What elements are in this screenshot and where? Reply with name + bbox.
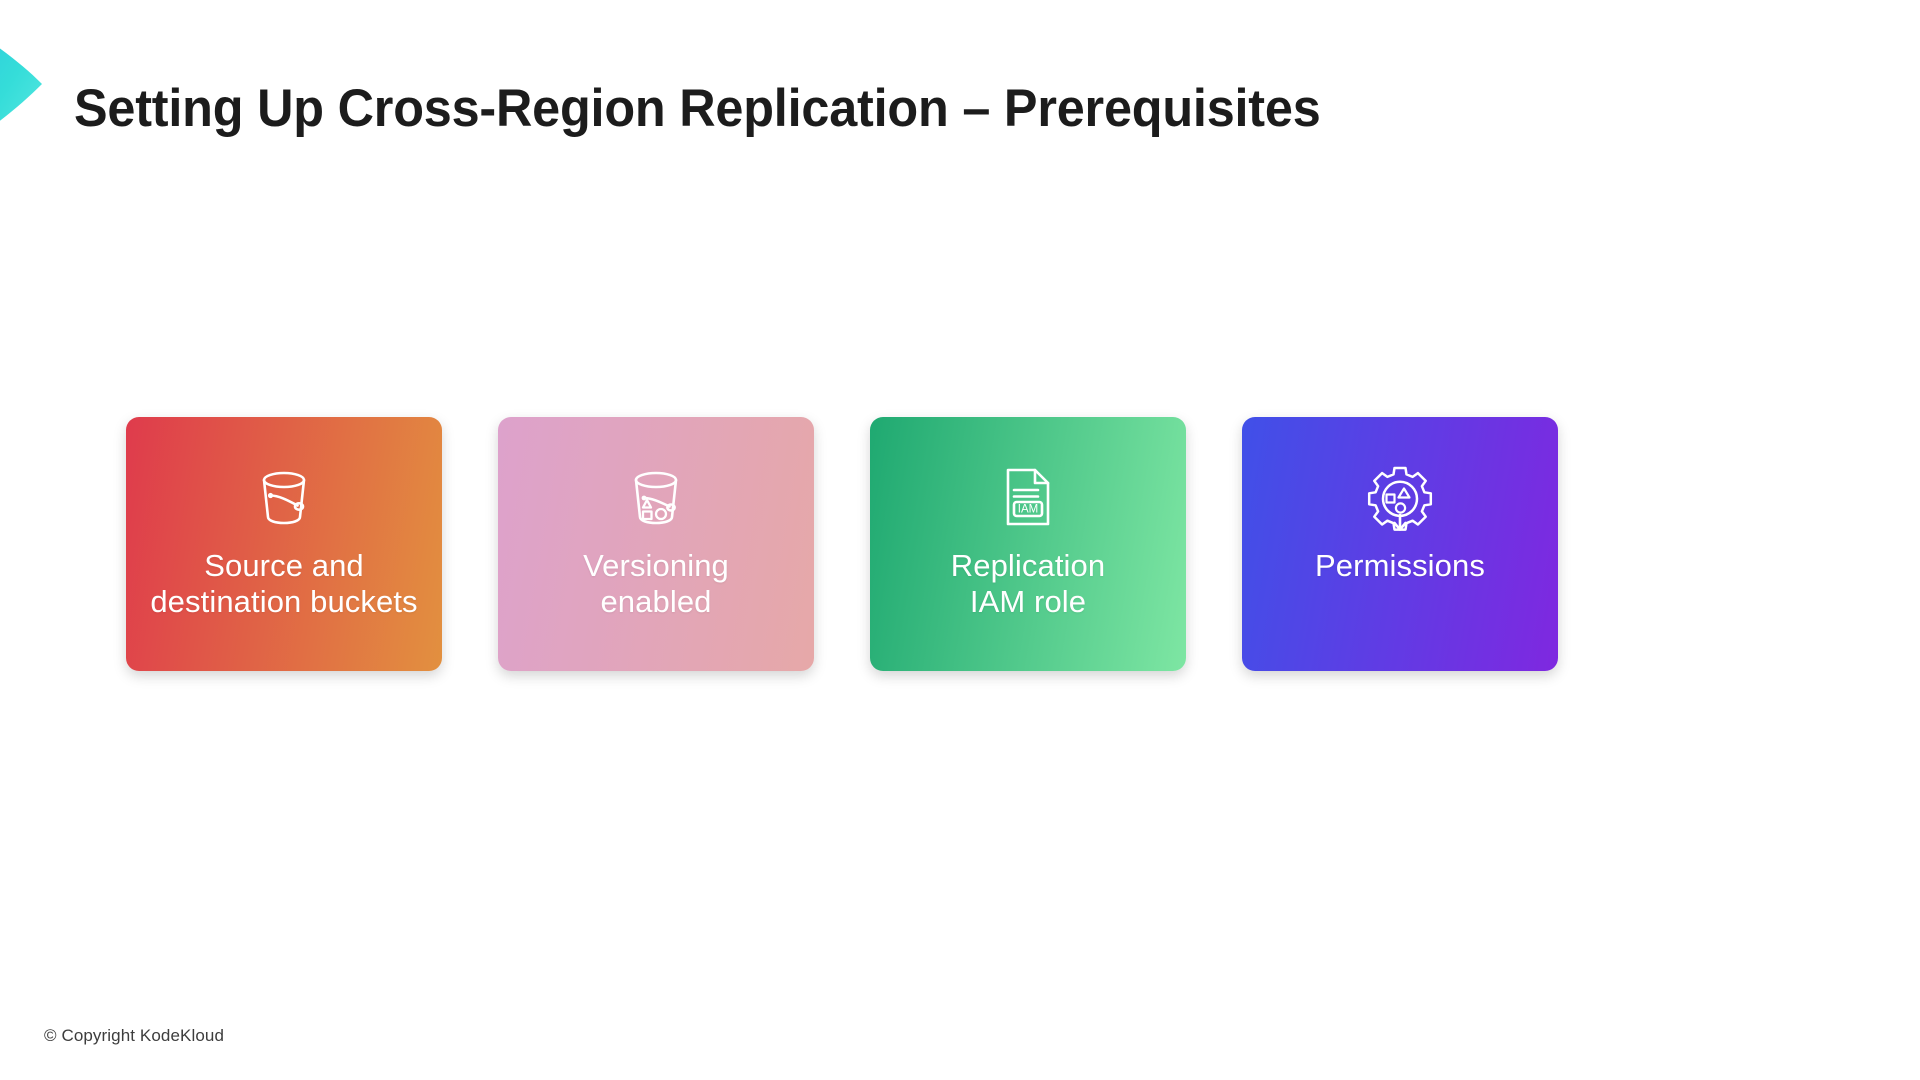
kodekloud-chevron-logo [0, 8, 62, 160]
prerequisite-card-versioning-enabled[interactable]: Versioning enabled [498, 417, 814, 671]
s3-bucket-versions-icon [619, 460, 693, 534]
prerequisites-card-row: Source and destination buckets Versionin… [126, 417, 1558, 671]
prerequisite-card-label: Versioning enabled [511, 548, 802, 621]
prerequisite-card-label: Replication IAM role [883, 548, 1174, 621]
page-title: Setting Up Cross-Region Replication – Pr… [74, 78, 1321, 139]
prerequisite-card-replication-iam-role[interactable]: IAM Replication IAM role [870, 417, 1186, 671]
prerequisite-card-source-destination-buckets[interactable]: Source and destination buckets [126, 417, 442, 671]
prerequisite-card-label: Permissions [1255, 548, 1546, 584]
s3-bucket-icon [247, 460, 321, 534]
copyright-footer: © Copyright KodeKloud [44, 1026, 224, 1046]
iam-badge-text: IAM [1018, 504, 1038, 516]
permissions-gear-icon [1363, 460, 1437, 534]
prerequisite-card-permissions[interactable]: Permissions [1242, 417, 1558, 671]
prerequisite-card-label: Source and destination buckets [139, 548, 430, 621]
iam-document-icon: IAM [991, 460, 1065, 534]
